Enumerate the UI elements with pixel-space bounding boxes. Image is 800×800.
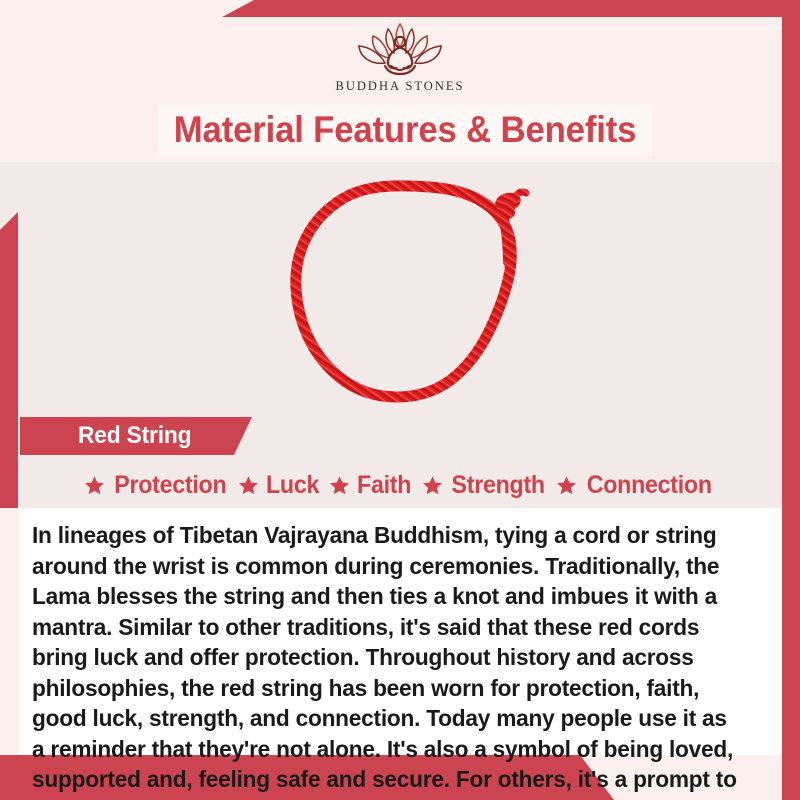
product-name-label: Red String — [78, 422, 191, 450]
bracelet-cord — [296, 186, 511, 397]
brand-logo: BUDDHA STONES — [0, 16, 800, 102]
benefit-item-faith: Faith — [329, 471, 413, 500]
benefit-label: Faith — [357, 471, 411, 500]
star-icon — [238, 475, 259, 496]
benefit-item-luck: Luck — [238, 471, 321, 500]
benefits-row: Protection Luck Faith Strength Connectio — [18, 466, 782, 504]
page-title-band: Material Features & Benefits — [158, 104, 652, 156]
benefit-label: Luck — [266, 471, 319, 500]
star-icon — [556, 475, 577, 496]
brand-name: BUDDHA STONES — [336, 79, 465, 94]
benefit-item-protection: Protection — [84, 471, 231, 500]
decor-strip-left — [0, 212, 18, 508]
description-card: In lineages of Tibetan Vajrayana Buddhis… — [18, 508, 782, 755]
star-icon — [422, 475, 443, 496]
decor-band-top-right — [222, 0, 800, 17]
product-name-banner: Red String — [20, 417, 252, 455]
red-braided-bracelet-illustration — [258, 166, 562, 416]
benefit-item-connection: Connection — [556, 471, 717, 500]
star-icon — [329, 475, 350, 496]
description-paragraph: In lineages of Tibetan Vajrayana Buddhis… — [32, 520, 742, 800]
lotus-meditation-figure-icon — [325, 16, 475, 78]
product-image — [258, 166, 562, 416]
decor-strip-right — [782, 0, 800, 800]
benefit-label: Protection — [114, 471, 226, 500]
page-title: Material Features & Benefits — [174, 109, 636, 151]
bracelet-tail — [504, 218, 508, 262]
infographic-page: BUDDHA STONES Material Features & Benefi… — [0, 0, 800, 800]
benefit-item-strength: Strength — [422, 471, 548, 500]
star-icon — [84, 475, 105, 496]
benefit-label: Strength — [451, 471, 544, 500]
benefit-label: Connection — [587, 471, 712, 500]
